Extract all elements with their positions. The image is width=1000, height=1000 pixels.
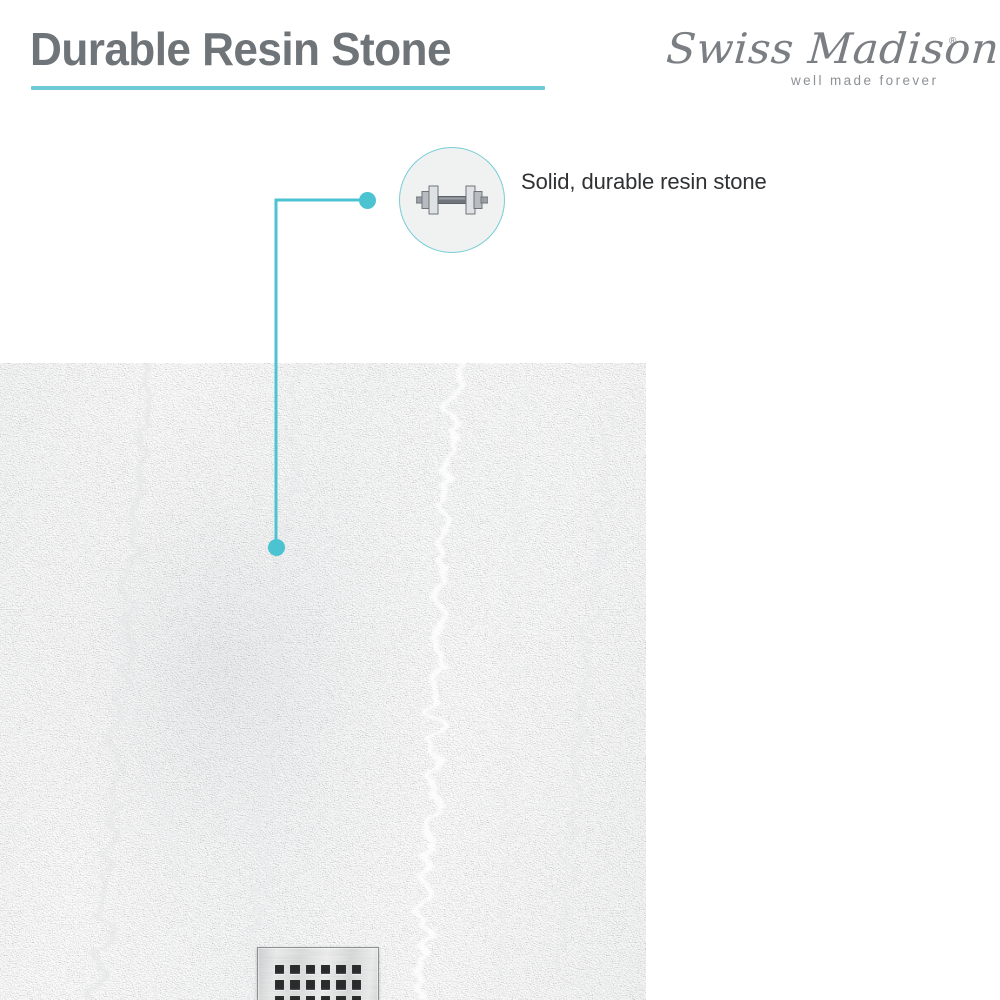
page-title: Durable Resin Stone: [30, 23, 451, 75]
drain-hole: [306, 965, 315, 974]
drain-hole: [321, 965, 330, 974]
drain-hole: [352, 980, 361, 989]
drain-grate-icon: [257, 947, 379, 1000]
drain-hole: [275, 965, 284, 974]
drain-hole: [352, 996, 361, 1000]
header: Durable Resin Stone Swiss Madison ® well…: [0, 0, 1000, 120]
brand-name: Swiss Madison: [665, 26, 1000, 72]
drain-hole: [306, 980, 315, 989]
drain-hole: [352, 965, 361, 974]
drain-hole: [336, 996, 345, 1000]
callout-text: Solid, durable resin stone: [521, 167, 767, 197]
dumbbell-icon: [416, 178, 488, 222]
drain-hole: [306, 996, 315, 1000]
drain-hole: [275, 980, 284, 989]
drain-hole: [321, 996, 330, 1000]
product-photo: [0, 363, 646, 1000]
drain-hole: [290, 965, 299, 974]
callout-circle: [399, 147, 505, 253]
drain-hole: [336, 980, 345, 989]
connector-dot-bottom: [268, 539, 285, 556]
infographic-page: Durable Resin Stone Swiss Madison ® well…: [0, 0, 1000, 1000]
drain-hole: [290, 996, 299, 1000]
registered-trademark-icon: ®: [949, 36, 956, 47]
drain-hole: [336, 965, 345, 974]
drain-hole: [290, 980, 299, 989]
stone-vein-texture: [0, 363, 646, 1000]
drain-hole: [275, 996, 284, 1000]
drain-hole-grid: [275, 965, 361, 1000]
brand-logo: Swiss Madison ® well made forever: [668, 26, 968, 92]
drain-hole: [321, 980, 330, 989]
brand-tagline: well made forever: [791, 73, 938, 89]
title-underline: [31, 86, 545, 90]
connector-dot-top: [359, 192, 376, 209]
